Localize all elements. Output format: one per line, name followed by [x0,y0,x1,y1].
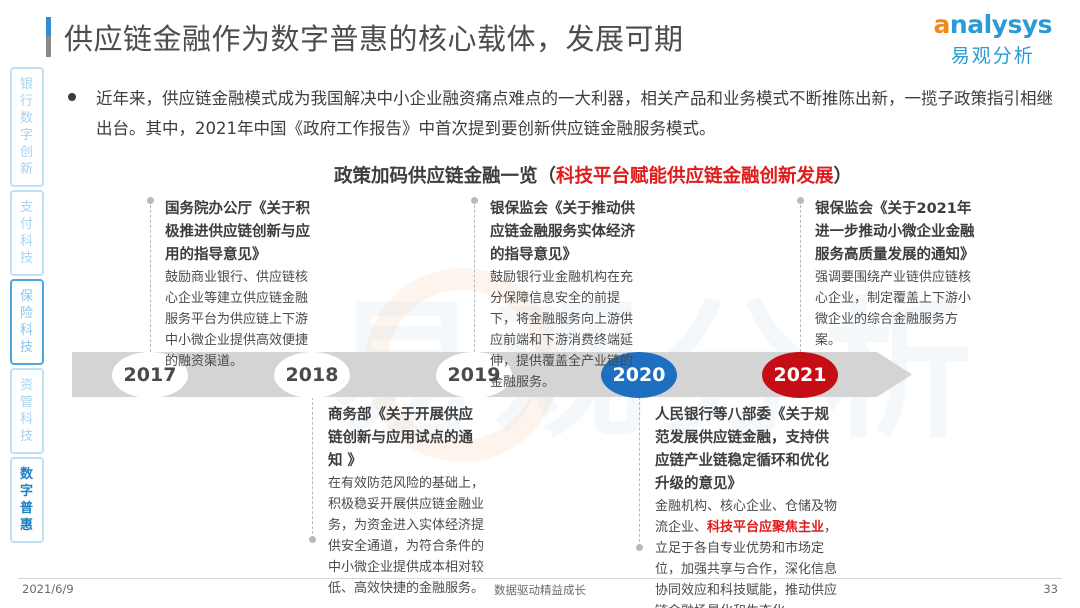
slide-canvas: 易观分析 供应链金融作为数字普惠的核心载体，发展可期 analysys 易观分析… [0,0,1080,608]
intro-text: 近年来，供应链金融模式成为我国解决中小企业融资痛点难点的一大利器，相关产品和业务… [96,84,1058,144]
sidebar-item-char: 字 [12,483,42,500]
connector-dot-2021 [797,197,804,204]
policy-card-title: 人民银行等八部委《关于规范发展供应链金融，支持供应链产业链稳定循环和优化升级的意… [655,404,840,496]
policy-card-2020: 人民银行等八部委《关于规范发展供应链金融，支持供应链产业链稳定循环和优化升级的意… [655,404,840,608]
policy-card-title: 国务院办公厅《关于积极推进供应链创新与应用的指导意见》 [165,198,315,267]
sidebar-item-char: 技 [12,339,42,356]
footer-divider [18,578,1062,579]
sidebar-item-label: 数字普惠 [12,466,42,534]
timeline-year-2021[interactable]: 2021 [762,352,838,398]
sidebar-item-char: 付 [12,216,42,233]
sidebar-item-char: 保 [12,288,42,305]
sidebar-item-char: 数 [12,466,42,483]
sidebar-item-char: 管 [12,394,42,411]
sidebar-item-label: 保险科技 [12,288,42,356]
connector-2020 [639,397,641,547]
sidebar-item-char: 创 [12,144,42,161]
policy-card-body: 鼓励银行业金融机构在充分保障信息安全的前提下，将金融服务向上游供应前端和下游消费… [490,267,642,393]
sidebar-item-char: 科 [12,233,42,250]
sidebar-item-char: 科 [12,322,42,339]
sidebar-item-char: 科 [12,411,42,428]
page-title: 供应链金融作为数字普惠的核心载体，发展可期 [64,16,684,58]
sidebar-item-bank-digital[interactable]: 银行数字创新 [10,67,44,187]
page-title-row: 供应链金融作为数字普惠的核心载体，发展可期 [46,16,684,58]
footer-page-number: 33 [1043,582,1058,596]
connector-dot-2017 [147,197,154,204]
policy-card-body: 在有效防范风险的基础上，积极稳妥开展供应链金融业务，为资金进入实体经济提供安全通… [328,473,484,599]
sidebar-item-char: 支 [12,199,42,216]
title-accent-bar [46,17,51,57]
sidebar-item-char: 数 [12,110,42,127]
brand-logo: analysys 易观分析 [934,12,1052,68]
sidebar-item-char: 新 [12,161,42,178]
bullet-dot-icon [68,93,76,101]
sidebar-item-char: 银 [12,76,42,93]
policy-card-body-highlight: 科技平台应聚焦主业 [707,520,824,535]
sidebar-tabs[interactable]: 银行数字创新 支付科技 保险科技 资管科技 数字普惠 [10,67,44,546]
logo-initial: a [934,10,950,39]
sidebar-item-char: 字 [12,127,42,144]
logo-subtitle: 易观分析 [934,41,1052,68]
sidebar-item-label: 支付科技 [12,199,42,267]
connector-2018 [312,397,314,539]
connector-2017 [150,200,152,352]
panel-heading: 政策加码供应链金融一览（科技平台赋能供应链金融创新发展） [334,162,852,188]
logo-rest: nalysys [950,10,1052,39]
policy-card-body: 鼓励商业银行、供应链核心企业等建立供应链金融服务平台为供应链上下游中小微企业提供… [165,267,315,372]
sidebar-item-char: 行 [12,93,42,110]
sidebar-item-asset-tech[interactable]: 资管科技 [10,368,44,454]
policy-card-2018: 商务部《关于开展供应链创新与应用试点的通知 》 在有效防范风险的基础上，积极稳妥… [328,404,484,599]
policy-card-2019: 银保监会《关于推动供应链金融服务实体经济的指导意见》 鼓励银行业金融机构在充分保… [490,198,642,393]
policy-card-title: 商务部《关于开展供应链创新与应用试点的通知 》 [328,404,484,473]
connector-2019 [474,200,476,352]
policy-card-title: 银保监会《关于推动供应链金融服务实体经济的指导意见》 [490,198,642,267]
timeline-year-label: 2021 [774,364,827,386]
sidebar-item-label: 资管科技 [12,377,42,445]
intro-bullet: 近年来，供应链金融模式成为我国解决中小企业融资痛点难点的一大利器，相关产品和业务… [68,84,1058,144]
sidebar-item-char: 资 [12,377,42,394]
sidebar-item-char: 技 [12,250,42,267]
policy-card-2021: 银保监会《关于2021年进一步推动小微企业金融服务高质量发展的通知》 强调要围绕… [815,198,975,351]
policy-card-body: 强调要围绕产业链供应链核心企业，制定覆盖上下游小微企业的综合金融服务方案。 [815,267,975,351]
sidebar-item-payment-tech[interactable]: 支付科技 [10,190,44,276]
sidebar-item-char: 险 [12,305,42,322]
connector-dot-2020 [636,544,643,551]
policy-card-2017: 国务院办公厅《关于积极推进供应链创新与应用的指导意见》 鼓励商业银行、供应链核心… [165,198,315,372]
panel-heading-tail: ） [834,166,853,187]
sidebar-item-char: 技 [12,428,42,445]
sidebar-item-char: 惠 [12,517,42,534]
sidebar-item-digital-inclusive[interactable]: 数字普惠 [10,457,44,543]
sidebar-item-label: 银行数字创新 [12,76,42,178]
connector-dot-2018 [309,536,316,543]
sidebar-item-insurance-tech[interactable]: 保险科技 [10,279,44,365]
logo-wordmark: analysys [934,12,1052,37]
panel-heading-highlight: 科技平台赋能供应链金融创新发展 [556,166,834,187]
sidebar-item-char: 普 [12,500,42,517]
connector-2021 [800,200,802,352]
policy-card-title: 银保监会《关于2021年进一步推动小微企业金融服务高质量发展的通知》 [815,198,975,267]
panel-heading-main: 政策加码供应链金融一览（ [334,166,556,187]
connector-dot-2019 [471,197,478,204]
footer-tagline: 数据驱动精益成长 [0,582,1080,598]
